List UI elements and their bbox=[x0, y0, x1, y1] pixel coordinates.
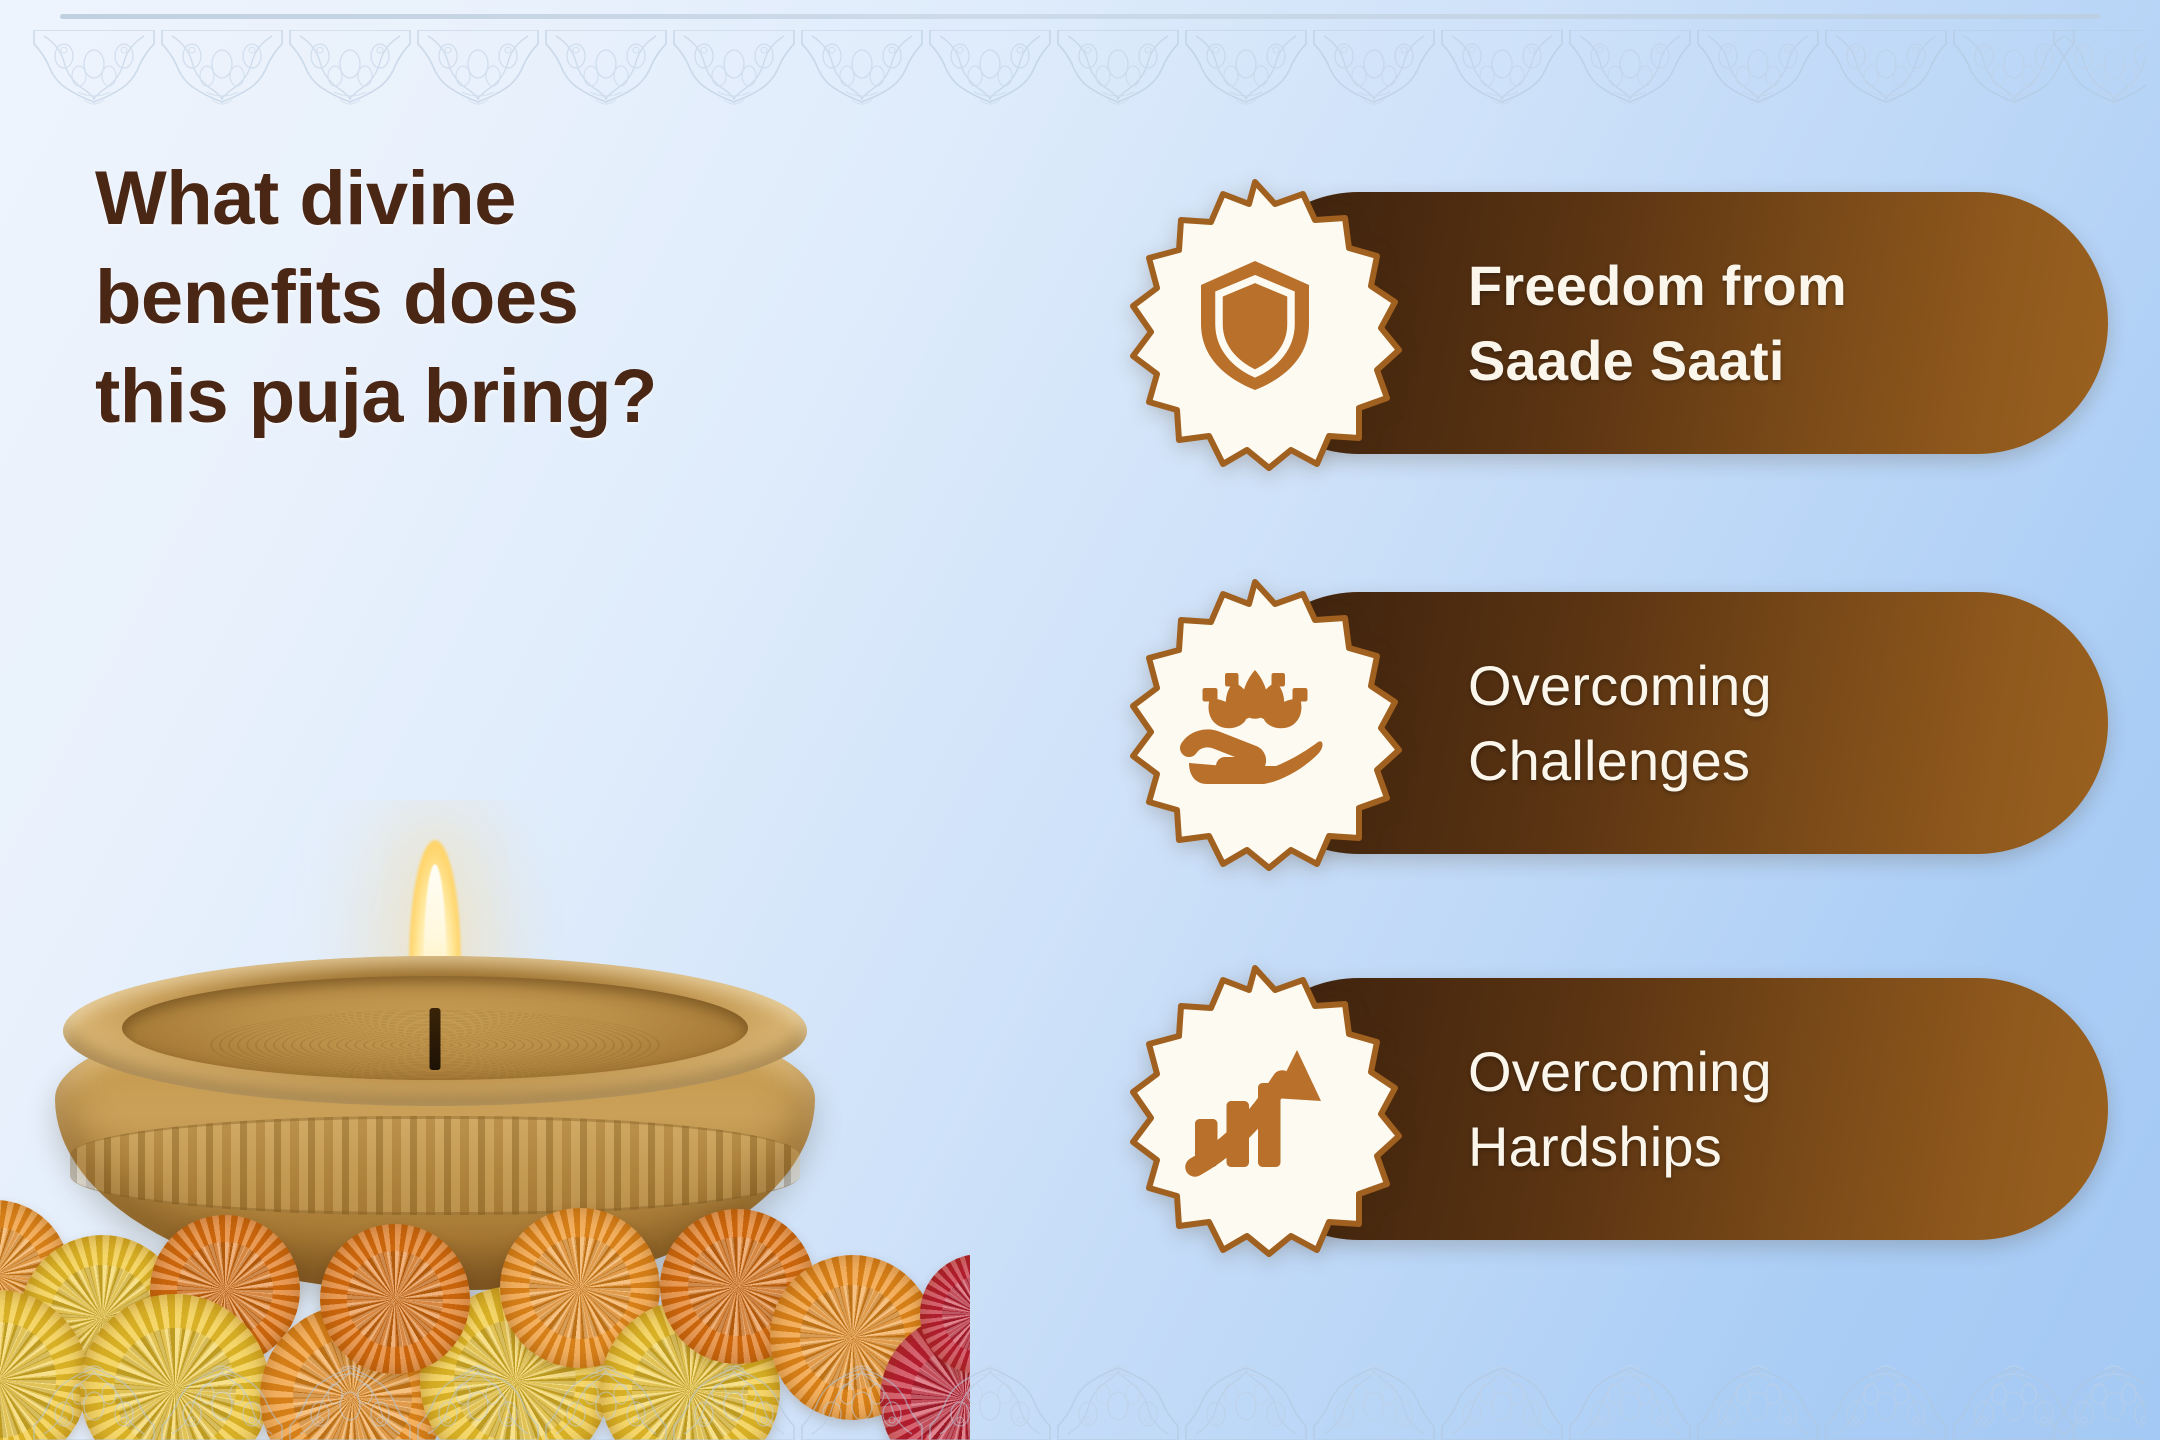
benefit-2-line-1: Overcoming bbox=[1468, 648, 1772, 723]
benefit-2-line-2: Challenges bbox=[1468, 723, 1772, 798]
benefit-label-1: Freedom from Saade Saati bbox=[1468, 248, 1847, 398]
top-divider-line bbox=[60, 14, 2100, 19]
shield-icon bbox=[1180, 249, 1330, 399]
page-title: What divine benefits does this puja brin… bbox=[95, 150, 915, 446]
benefit-3-line-1: Overcoming bbox=[1468, 1034, 1772, 1109]
benefit-3-line-2: Hardships bbox=[1468, 1109, 1772, 1184]
benefit-1-line-2: Saade Saati bbox=[1468, 323, 1847, 398]
headline-line-2: benefits does bbox=[95, 249, 915, 348]
benefit-label-3: Overcoming Hardships bbox=[1468, 1034, 1772, 1184]
diya-wick bbox=[429, 1008, 440, 1070]
lotus-in-hand-icon bbox=[1180, 649, 1330, 799]
benefit-1-line-1: Freedom from bbox=[1468, 248, 1847, 323]
diya-rim bbox=[63, 956, 808, 1106]
benefit-label-2: Overcoming Challenges bbox=[1468, 648, 1772, 798]
growth-chart-arrow-icon bbox=[1180, 1035, 1330, 1185]
headline-line-1: What divine bbox=[95, 150, 915, 249]
benefit-badge-2 bbox=[1105, 574, 1405, 874]
benefit-badge-3 bbox=[1105, 960, 1405, 1260]
marigold-flowers bbox=[0, 1180, 970, 1440]
benefit-badge-1 bbox=[1105, 174, 1405, 474]
headline-line-3: this puja bring? bbox=[95, 348, 915, 447]
mandala-border-top bbox=[0, 30, 2160, 116]
diya-photo bbox=[0, 800, 970, 1440]
